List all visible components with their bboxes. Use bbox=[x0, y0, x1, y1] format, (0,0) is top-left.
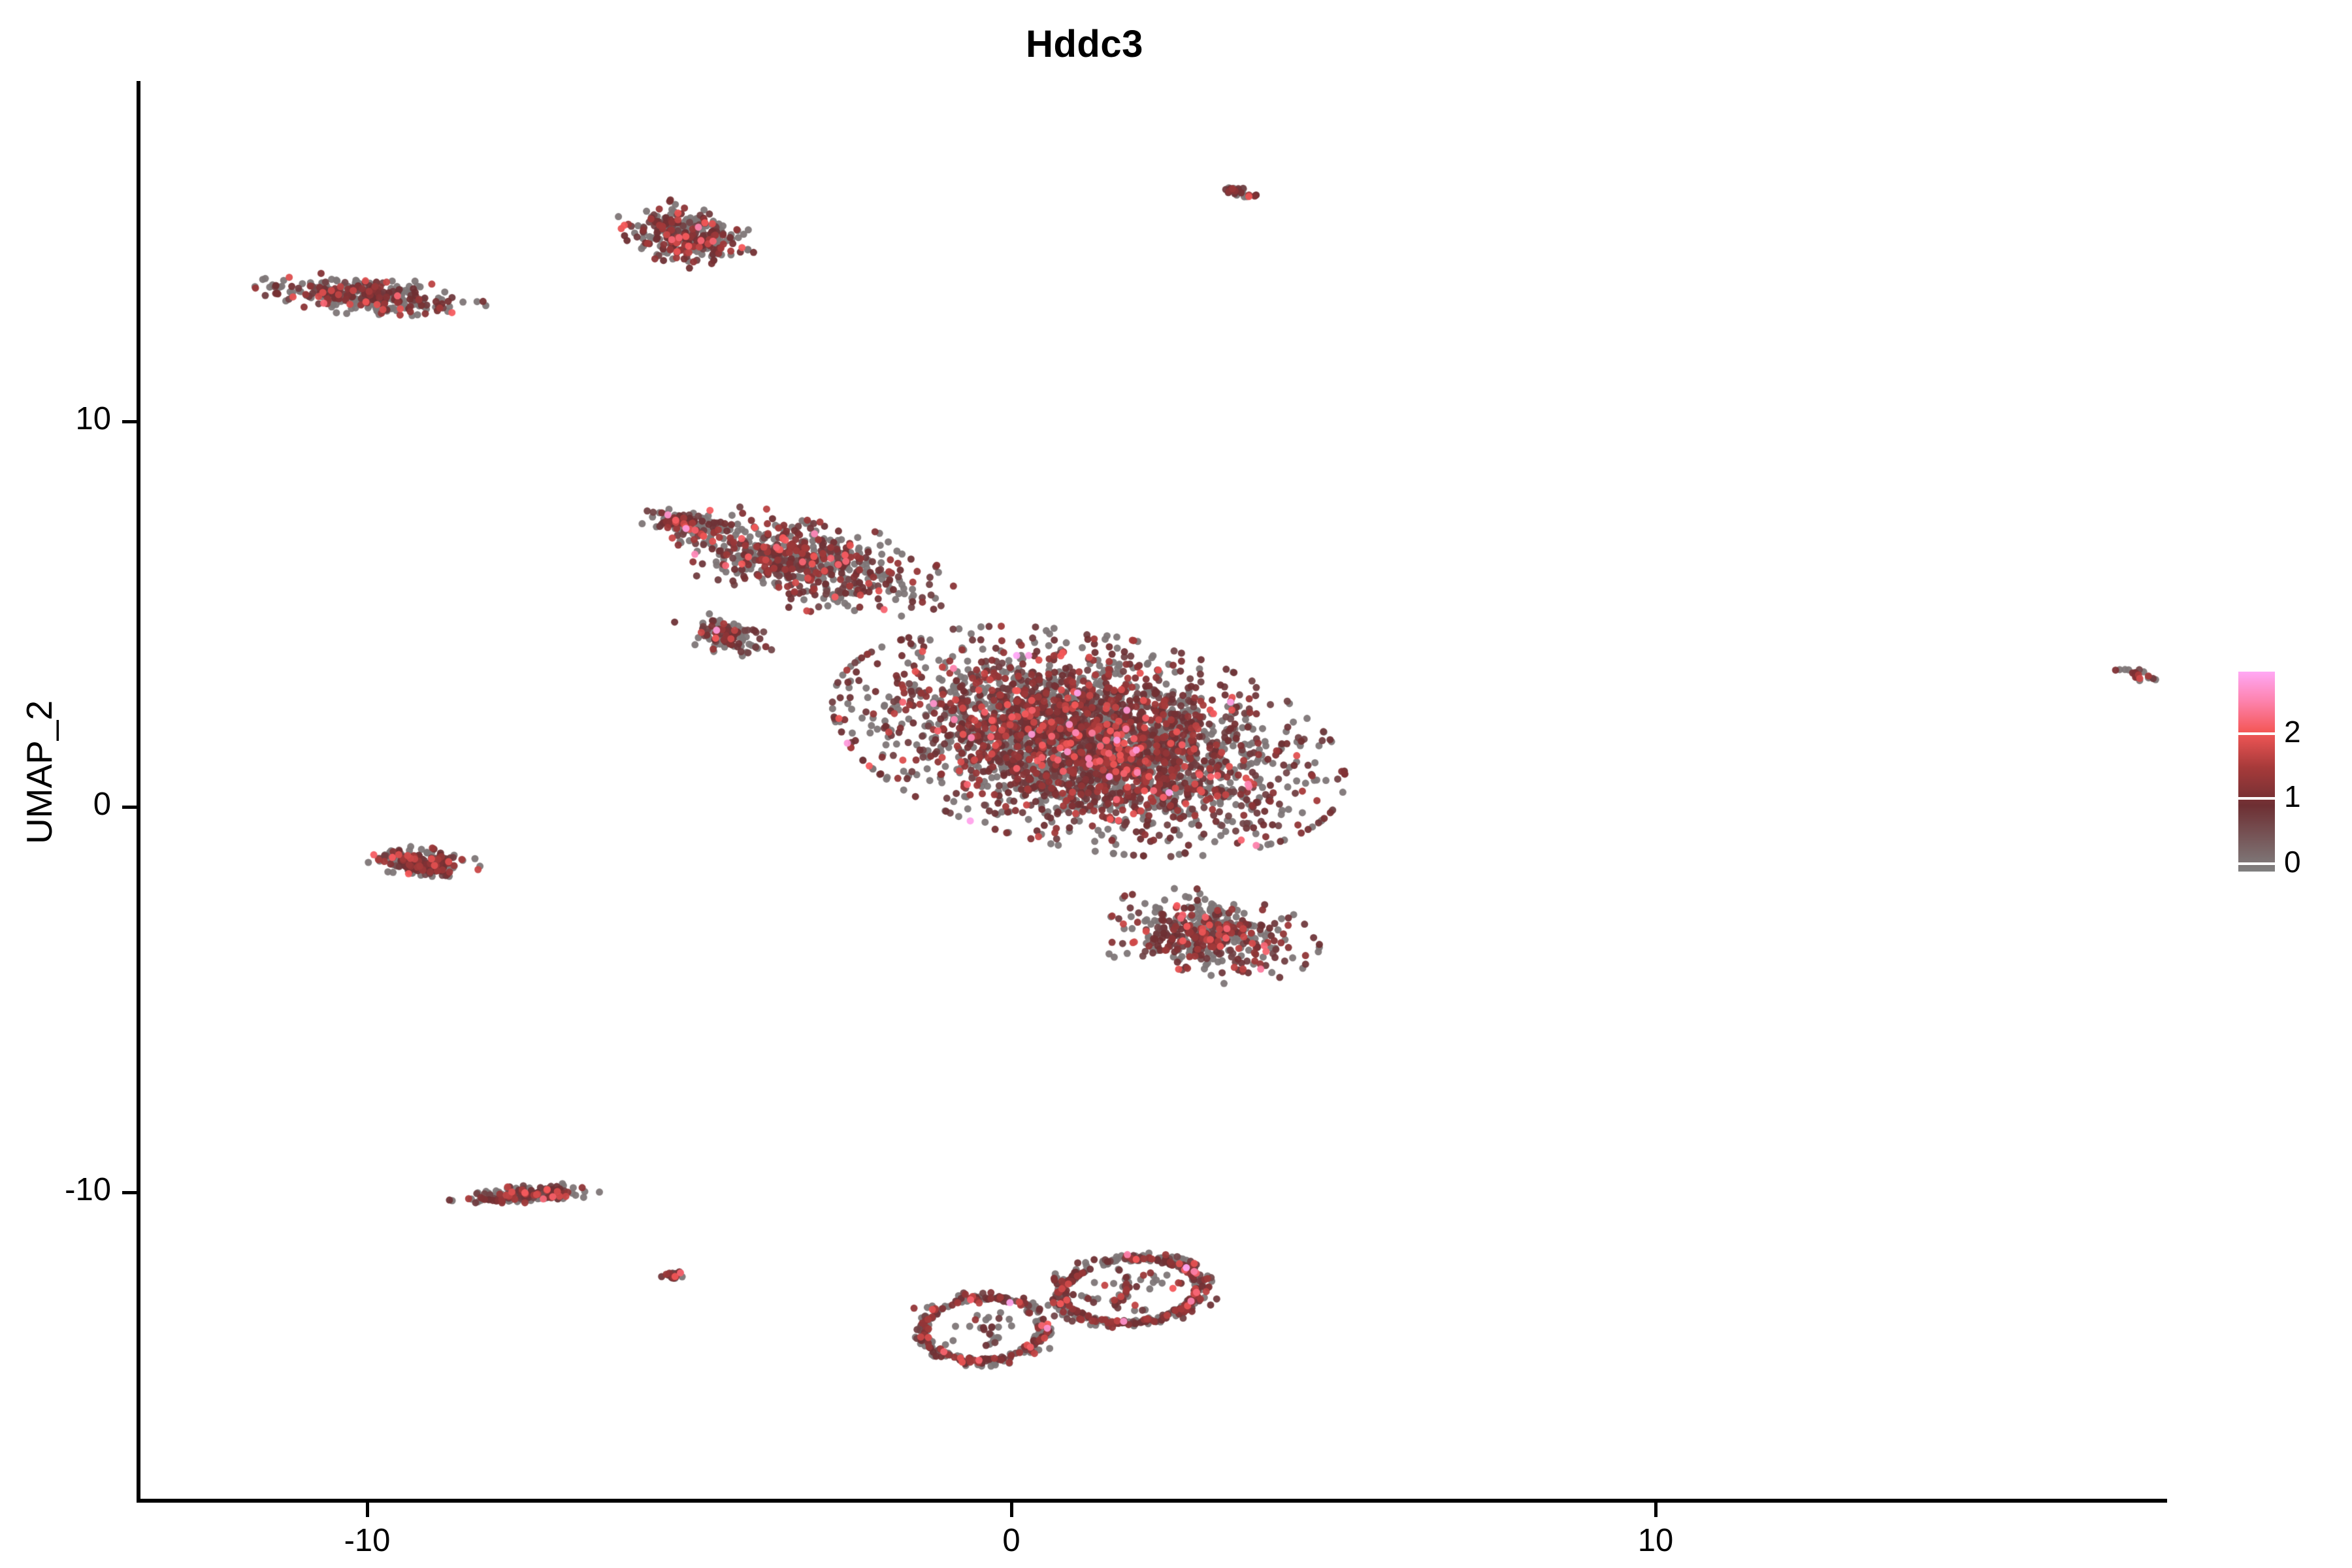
colorbar-tick-label: 0 bbox=[2284, 844, 2301, 879]
colorbar-tick-mark bbox=[2238, 732, 2275, 735]
x-axis-line bbox=[137, 1499, 2167, 1503]
colorbar-tick-mark bbox=[2238, 797, 2275, 800]
x-tick-label: 10 bbox=[1577, 1522, 1734, 1559]
y-tick-mark bbox=[122, 1191, 137, 1194]
y-tick-mark bbox=[122, 806, 137, 809]
scatter-canvas bbox=[139, 82, 2164, 1501]
x-tick-label: 0 bbox=[933, 1522, 1090, 1559]
colorbar-tick-label: 2 bbox=[2284, 714, 2301, 749]
umap-feature-plot: Hddc3 -10010 -10010 UMAP_1 UMAP_2 012 bbox=[0, 0, 2352, 1568]
y-tick-label: -10 bbox=[0, 1171, 111, 1208]
x-tick-mark bbox=[1010, 1503, 1013, 1517]
x-tick-mark bbox=[1654, 1503, 1658, 1517]
colorbar-tick-mark bbox=[2238, 862, 2275, 865]
colorbar-gradient bbox=[2238, 672, 2275, 872]
x-tick-label: -10 bbox=[289, 1522, 446, 1559]
plot-panel bbox=[139, 82, 2164, 1501]
colorbar-tick-label: 1 bbox=[2284, 779, 2301, 814]
color-legend: 012 bbox=[2234, 666, 2345, 882]
y-axis-label: UMAP_2 bbox=[18, 380, 60, 1164]
y-axis-line bbox=[137, 81, 140, 1503]
x-tick-mark bbox=[366, 1503, 369, 1517]
y-tick-mark bbox=[122, 420, 137, 423]
page-title: Hddc3 bbox=[0, 22, 2169, 66]
